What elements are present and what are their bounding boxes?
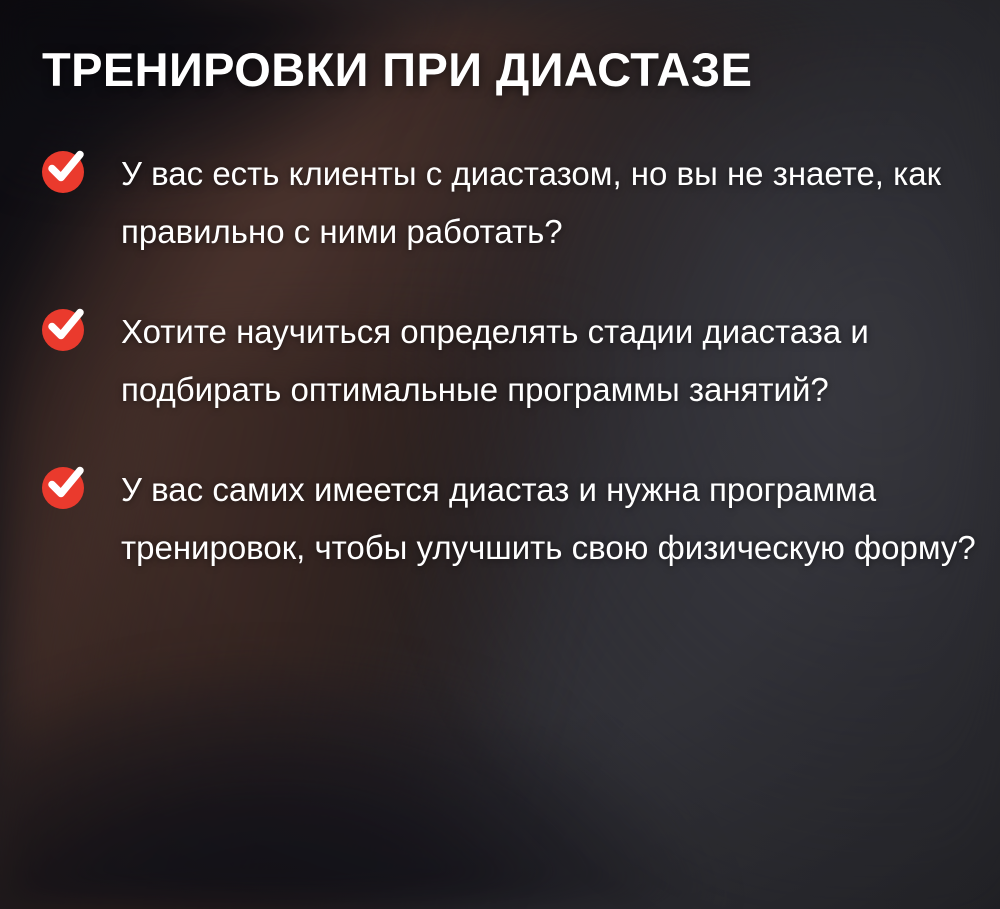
check-mark-icon: [42, 465, 86, 509]
list-item: У вас есть клиенты с диастазом, но вы не…: [42, 145, 978, 261]
poster-content: ТРЕНИРОВКИ ПРИ ДИАСТАЗЕ У вас есть клиен…: [0, 0, 1000, 577]
check-mark-icon: [42, 149, 86, 193]
check-mark-icon: [42, 307, 86, 351]
list-item-text: У вас есть клиенты с диастазом, но вы не…: [121, 145, 978, 261]
list-item: Хотите научиться определять стадии диаст…: [42, 303, 978, 419]
list-item-text: У вас самих имеется диастаз и нужна прог…: [121, 461, 978, 577]
list-item-text: Хотите научиться определять стадии диаст…: [121, 303, 978, 419]
list-item: У вас самих имеется диастаз и нужна прог…: [42, 461, 978, 577]
benefit-question-list: У вас есть клиенты с диастазом, но вы не…: [42, 145, 978, 577]
promo-poster: ТРЕНИРОВКИ ПРИ ДИАСТАЗЕ У вас есть клиен…: [0, 0, 1000, 909]
page-title: ТРЕНИРОВКИ ПРИ ДИАСТАЗЕ: [42, 46, 978, 95]
